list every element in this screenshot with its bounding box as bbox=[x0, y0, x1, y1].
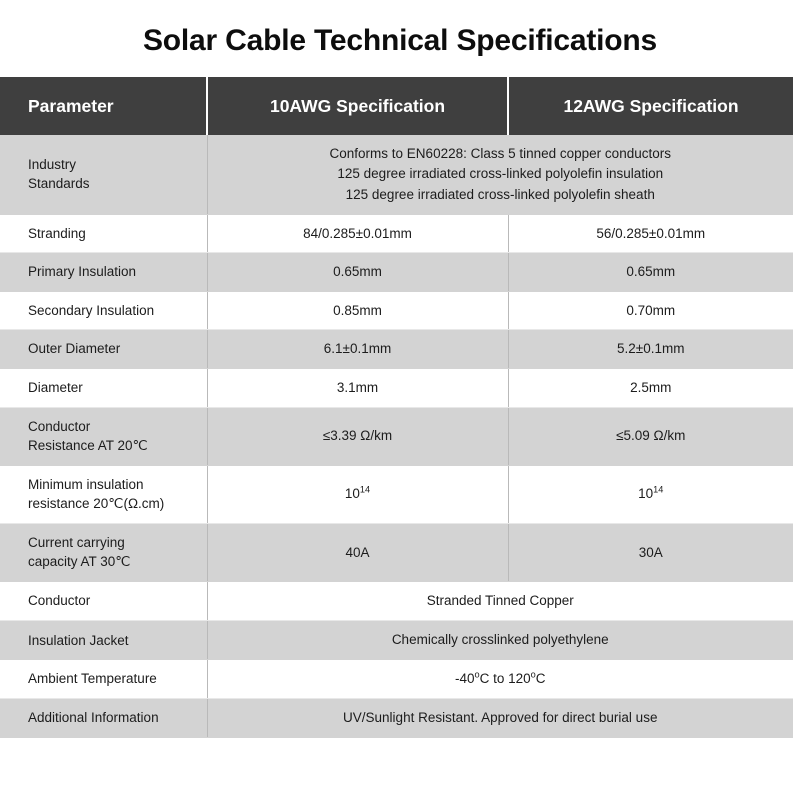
spec-cell-merged: Chemically crosslinked polyethylene bbox=[207, 621, 793, 660]
spec-text: Conforms to EN60228: Class 5 tinned copp… bbox=[330, 146, 671, 202]
spec-cell-12awg: 0.65mm bbox=[508, 253, 793, 292]
table-row: Diameter3.1mm2.5mm bbox=[0, 369, 793, 408]
degree-symbol: o bbox=[531, 670, 536, 680]
exponent: 14 bbox=[653, 485, 663, 495]
spec-cell-10awg: 0.85mm bbox=[207, 291, 508, 330]
spec-cell-10awg: 40A bbox=[207, 523, 508, 581]
spec-text: UV/Sunlight Resistant. Approved for dire… bbox=[343, 710, 657, 725]
exponent: 14 bbox=[360, 485, 370, 495]
parameter-cell: Insulation Jacket bbox=[0, 621, 207, 660]
spec-cell-10awg: 0.65mm bbox=[207, 253, 508, 292]
parameter-cell: Primary Insulation bbox=[0, 253, 207, 292]
parameter-cell: Industry Standards bbox=[0, 135, 207, 214]
table-body: Industry StandardsConforms to EN60228: C… bbox=[0, 135, 793, 738]
spec-text: Stranded Tinned Copper bbox=[427, 593, 574, 608]
spec-cell-10awg: 3.1mm bbox=[207, 369, 508, 408]
spec-cell-10awg: 1014 bbox=[207, 465, 508, 523]
table-row: Outer Diameter6.1±0.1mm5.2±0.1mm bbox=[0, 330, 793, 369]
spec-cell-10awg: 6.1±0.1mm bbox=[207, 330, 508, 369]
column-header-12awg: 12AWG Specification bbox=[508, 77, 793, 135]
spec-cell-12awg: 1014 bbox=[508, 465, 793, 523]
spec-cell-12awg: 56/0.285±0.01mm bbox=[508, 214, 793, 253]
parameter-cell: Conductor bbox=[0, 581, 207, 620]
parameter-cell: Minimum insulation resistance 20℃(Ω.cm) bbox=[0, 465, 207, 523]
table-row: Insulation JacketChemically crosslinked … bbox=[0, 621, 793, 660]
parameter-cell: Ambient Temperature bbox=[0, 660, 207, 699]
spec-cell-12awg: 0.70mm bbox=[508, 291, 793, 330]
table-row: Industry StandardsConforms to EN60228: C… bbox=[0, 135, 793, 214]
table-row: Current carrying capacity AT 30℃40A30A bbox=[0, 523, 793, 581]
table-row: Minimum insulation resistance 20℃(Ω.cm)1… bbox=[0, 465, 793, 523]
spec-cell-merged: Conforms to EN60228: Class 5 tinned copp… bbox=[207, 135, 793, 214]
parameter-cell: Diameter bbox=[0, 369, 207, 408]
table-row: Ambient Temperature-40oC to 120oC bbox=[0, 660, 793, 699]
table-header: Parameter 10AWG Specification 12AWG Spec… bbox=[0, 77, 793, 135]
spec-cell-merged: UV/Sunlight Resistant. Approved for dire… bbox=[207, 699, 793, 738]
spec-cell-10awg: 84/0.285±0.01mm bbox=[207, 214, 508, 253]
degree-symbol: o bbox=[475, 670, 480, 680]
page-title: Solar Cable Technical Specifications bbox=[0, 0, 800, 77]
specifications-table: Parameter 10AWG Specification 12AWG Spec… bbox=[0, 77, 793, 738]
parameter-cell: Current carrying capacity AT 30℃ bbox=[0, 523, 207, 581]
table-row: Stranding84/0.285±0.01mm56/0.285±0.01mm bbox=[0, 214, 793, 253]
table-row: Secondary Insulation0.85mm0.70mm bbox=[0, 291, 793, 330]
spec-cell-merged: Stranded Tinned Copper bbox=[207, 581, 793, 620]
table-row: Additional InformationUV/Sunlight Resist… bbox=[0, 699, 793, 738]
column-header-parameter: Parameter bbox=[0, 77, 207, 135]
table-row: Primary Insulation0.65mm0.65mm bbox=[0, 253, 793, 292]
header-row: Parameter 10AWG Specification 12AWG Spec… bbox=[0, 77, 793, 135]
spec-text: Chemically crosslinked polyethylene bbox=[392, 632, 609, 647]
spec-cell-12awg: ≤5.09 Ω/km bbox=[508, 407, 793, 465]
table-row: ConductorStranded Tinned Copper bbox=[0, 581, 793, 620]
parameter-cell: Outer Diameter bbox=[0, 330, 207, 369]
parameter-cell: Secondary Insulation bbox=[0, 291, 207, 330]
spec-cell-merged: -40oC to 120oC bbox=[207, 660, 793, 699]
parameter-cell: Stranding bbox=[0, 214, 207, 253]
table-row: Conductor Resistance AT 20℃≤3.39 Ω/km≤5.… bbox=[0, 407, 793, 465]
specification-sheet: Solar Cable Technical Specifications Par… bbox=[0, 0, 800, 800]
spec-cell-12awg: 2.5mm bbox=[508, 369, 793, 408]
spec-cell-12awg: 5.2±0.1mm bbox=[508, 330, 793, 369]
spec-cell-10awg: ≤3.39 Ω/km bbox=[207, 407, 508, 465]
parameter-cell: Conductor Resistance AT 20℃ bbox=[0, 407, 207, 465]
parameter-cell: Additional Information bbox=[0, 699, 207, 738]
spec-cell-12awg: 30A bbox=[508, 523, 793, 581]
column-header-10awg: 10AWG Specification bbox=[207, 77, 508, 135]
